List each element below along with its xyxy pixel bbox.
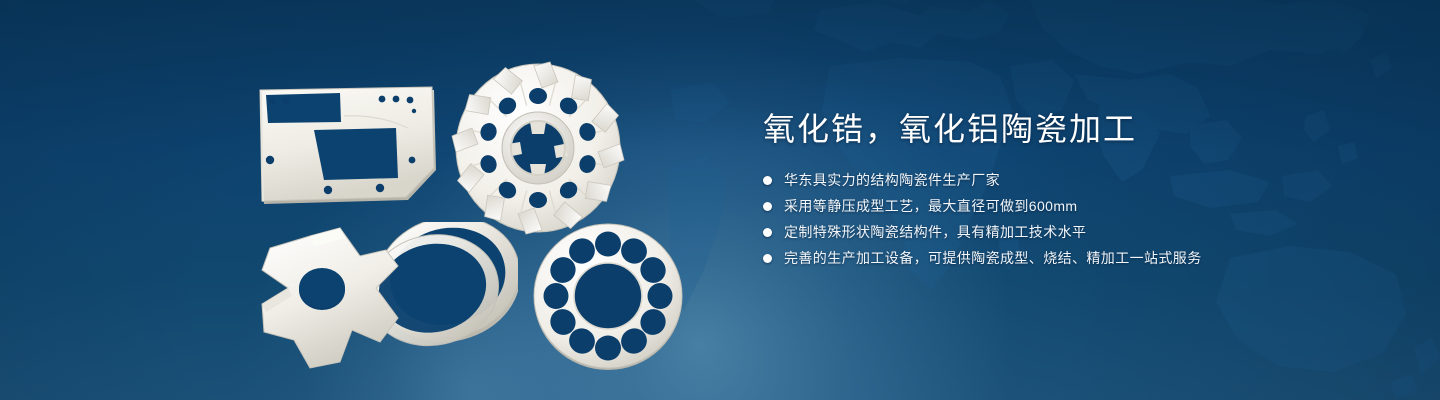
list-item: 华东具实力的结构陶瓷件生产厂家 [763,168,1383,192]
ceramic-plate-part [248,78,448,208]
feature-list: 华东具实力的结构陶瓷件生产厂家 采用等静压成型工艺，最大直径可做到600mm 定… [763,168,1383,270]
list-item: 采用等静压成型工艺，最大直径可做到600mm [763,194,1383,218]
bullet-dot-icon [763,254,772,263]
ceramic-cross-part [248,222,518,377]
list-item: 定制特殊形状陶瓷结构件，具有精加工技术水平 [763,220,1383,244]
feature-text: 华东具实力的结构陶瓷件生产厂家 [784,169,1000,191]
banner-text-block: 氧化锆，氧化铝陶瓷加工 华东具实力的结构陶瓷件生产厂家 采用等静压成型工艺，最大… [763,108,1383,272]
bullet-dot-icon [763,176,772,185]
feature-text: 定制特殊形状陶瓷结构件，具有精加工技术水平 [784,221,1086,243]
page-title: 氧化锆，氧化铝陶瓷加工 [763,108,1383,150]
ceramic-ring-part [518,218,698,378]
bullet-dot-icon [763,202,772,211]
feature-text: 完善的生产加工设备，可提供陶瓷成型、烧结、精加工一站式服务 [784,247,1202,269]
ceramic-impeller-part [438,48,638,243]
bullet-dot-icon [763,228,772,237]
list-item: 完善的生产加工设备，可提供陶瓷成型、烧结、精加工一站式服务 [763,246,1383,270]
feature-text: 采用等静压成型工艺，最大直径可做到600mm [784,195,1077,217]
promo-banner: 氧化锆，氧化铝陶瓷加工 华东具实力的结构陶瓷件生产厂家 采用等静压成型工艺，最大… [0,0,1440,400]
